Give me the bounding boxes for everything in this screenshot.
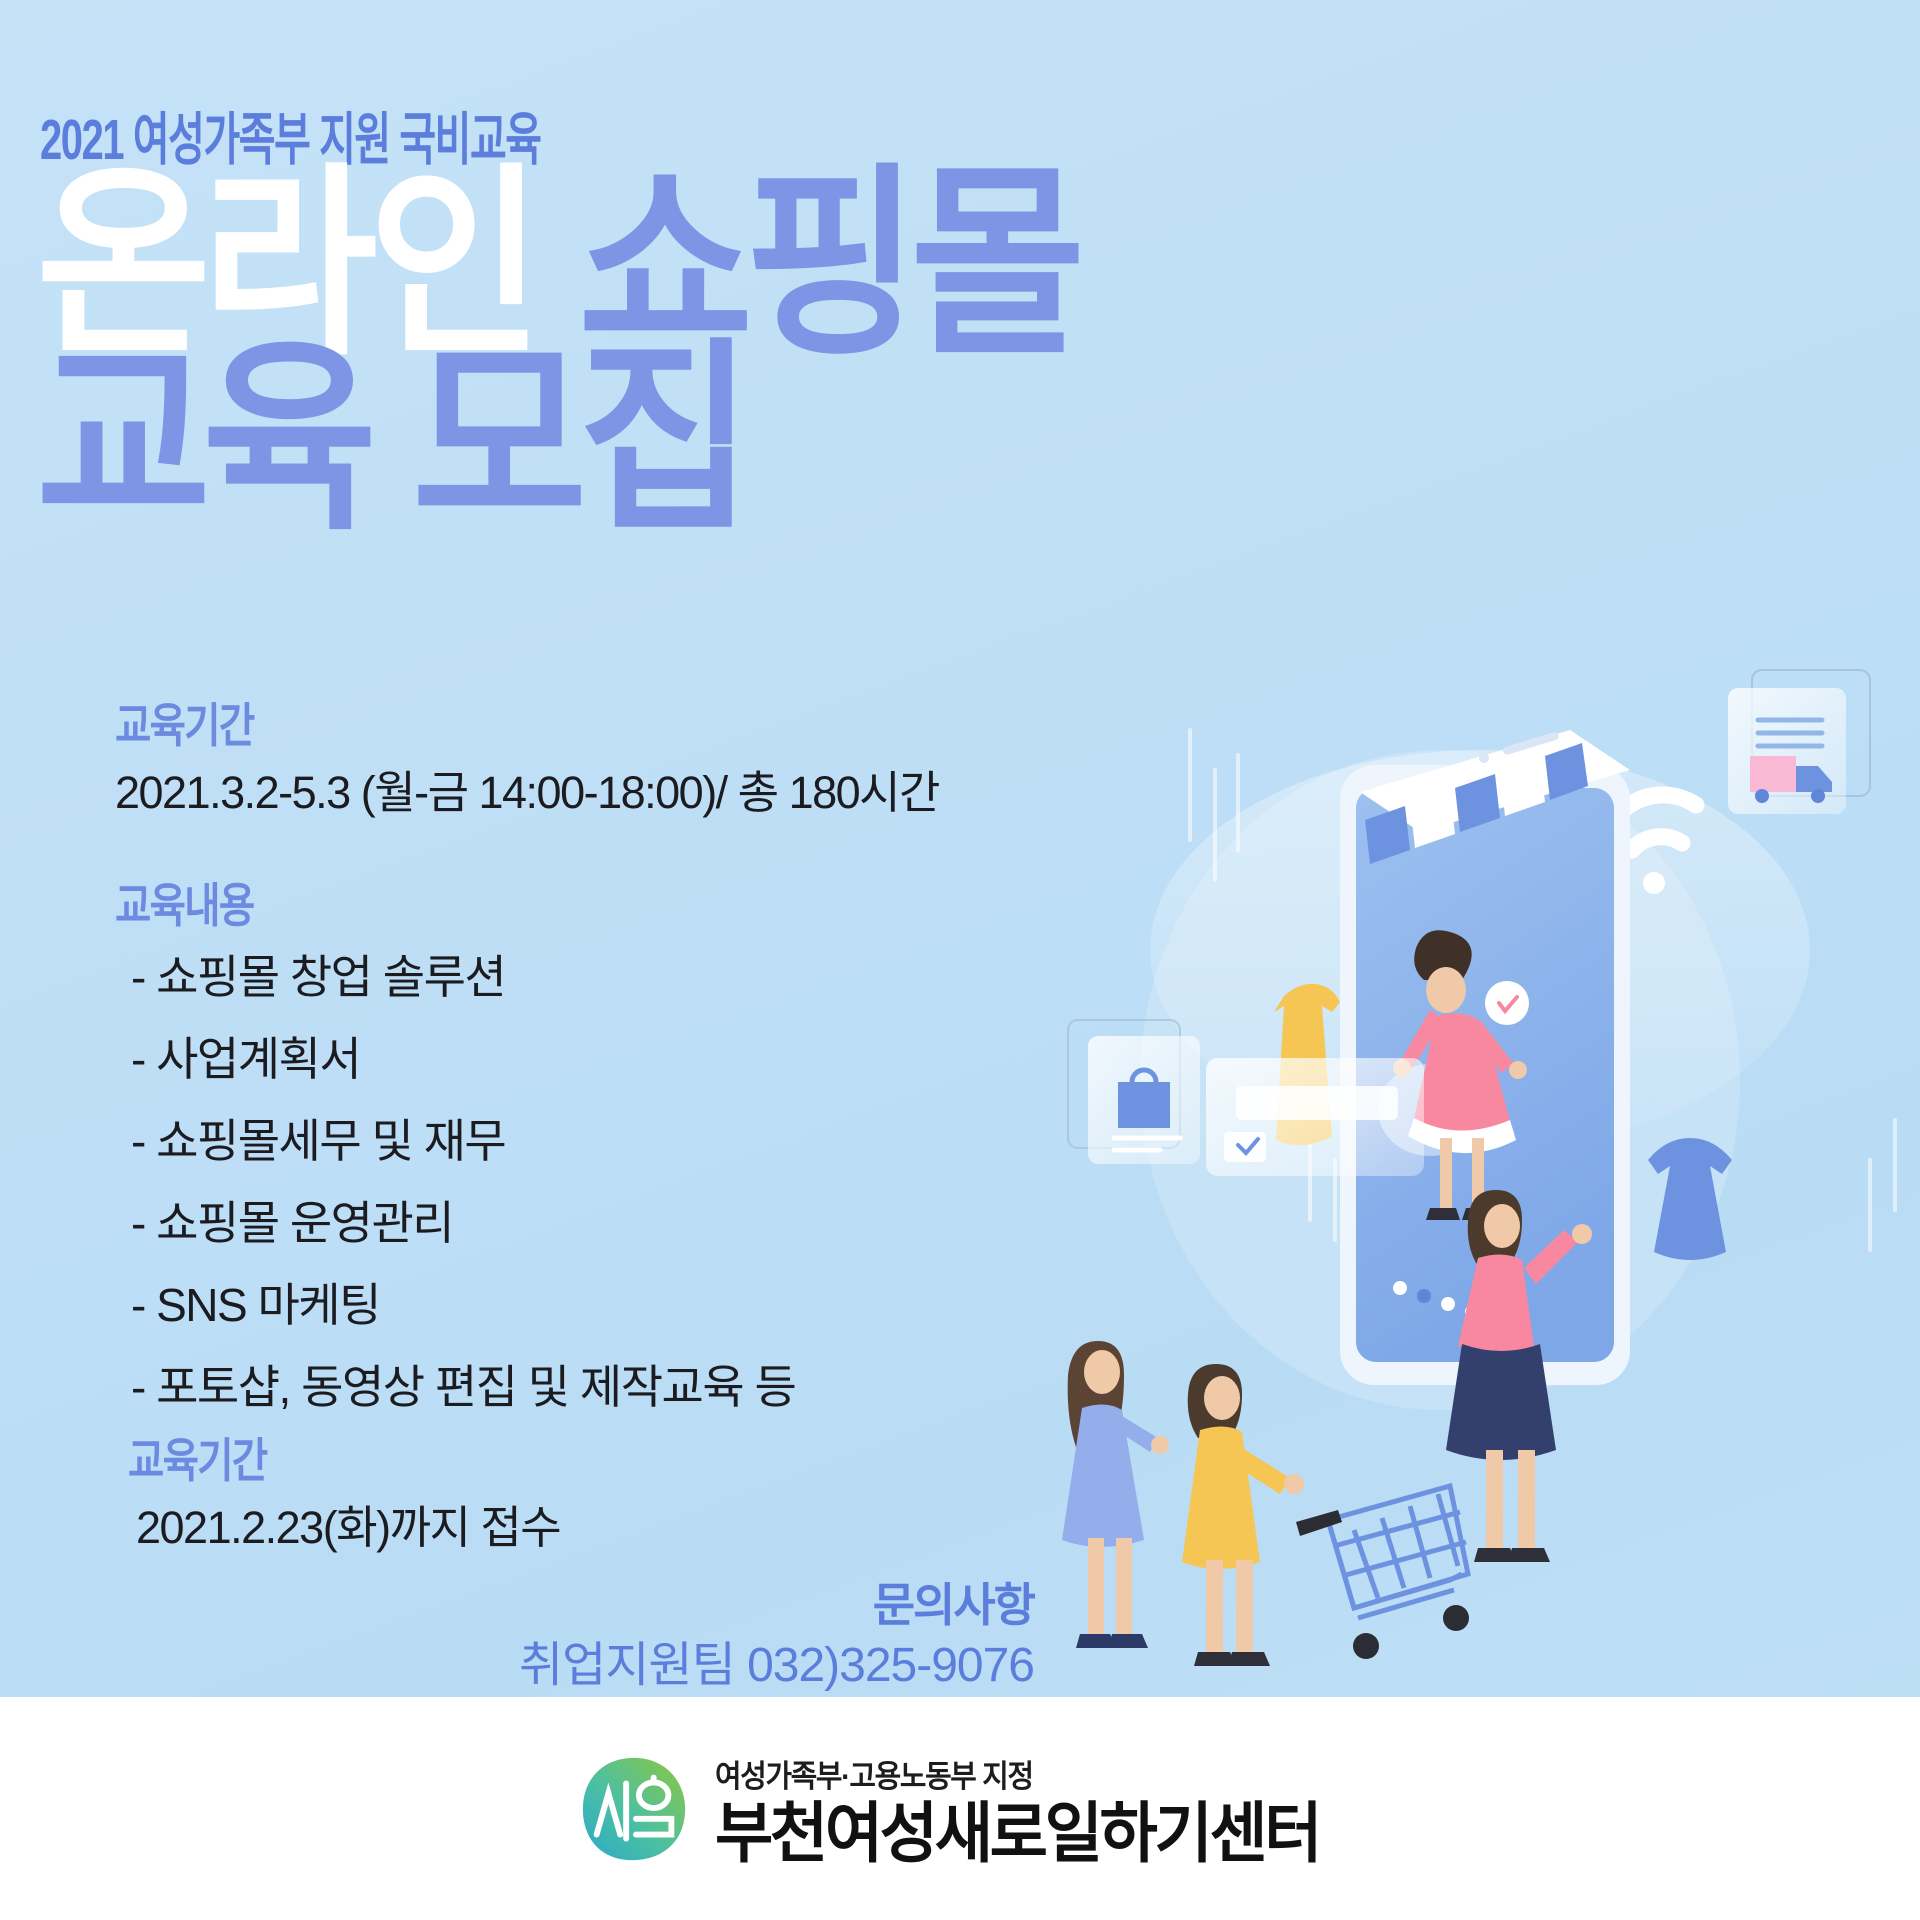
list-item: - 쇼핑몰 창업 솔루션 [115, 954, 795, 1000]
list-item: - 쇼핑몰 운영관리 [115, 1200, 795, 1246]
search-input-field [1236, 1086, 1398, 1120]
contact-section: 문의사항 취업지원팀 032)325-9076 [519, 1580, 1034, 1693]
delivery-truck-card [1728, 670, 1870, 814]
contact-phone[interactable]: 취업지원팀 032)325-9076 [519, 1638, 1034, 1694]
content-heading: 교육내용 [115, 880, 686, 932]
apply-value: 2021.2.23(화)까지 접수 [128, 1501, 560, 1554]
cart-wheel-right [1443, 1605, 1469, 1631]
footer-organization: 부천여성새로일하기센터 [715, 1800, 1319, 1866]
shopping-illustration [1010, 520, 1920, 1700]
list-item: - SNS 마케팅 [115, 1282, 795, 1328]
period-heading: 교육기간 [115, 700, 807, 752]
wifi-dot [1643, 872, 1665, 894]
truck-cargo-pink [1750, 756, 1796, 792]
poster-title: 온라인 쇼핑몰 교육 모집 [36, 160, 1155, 544]
search-bar-card [1206, 1058, 1424, 1176]
contact-heading: 문의사항 [519, 1580, 1034, 1632]
period-section: 교육기간 2021.3.2-5.3 (월-금 14:00-18:00)/ 총 1… [115, 700, 939, 819]
cart-wheel-left [1353, 1633, 1379, 1659]
cart-handle [1296, 1510, 1342, 1536]
woman-blue-dress [1062, 1341, 1169, 1648]
list-item: - 쇼핑몰세무 및 재무 [115, 1118, 795, 1164]
bag-body [1118, 1082, 1170, 1128]
content-section: 교육내용 - 쇼핑몰 창업 솔루션 - 사업계획서 - 쇼핑몰세무 및 재무 -… [115, 880, 795, 1446]
period-value: 2021.3.2-5.3 (월-금 14:00-18:00)/ 총 180시간 [115, 766, 939, 819]
title-line-2: 교육 모집 [36, 335, 1076, 544]
list-item: - 사업계획서 [115, 1036, 795, 1082]
content-list: - 쇼핑몰 창업 솔루션 - 사업계획서 - 쇼핑몰세무 및 재무 - 쇼핑몰 … [115, 954, 795, 1410]
list-item: - 포토샵, 동영상 편집 및 제작교육 등 [115, 1364, 795, 1410]
apply-section: 교육기간 2021.2.23(화)까지 접수 [128, 1435, 560, 1554]
woman-yellow-dress [1182, 1364, 1304, 1666]
poster-root: 2021 여성가족부 지원 국비교육 온라인 쇼핑몰 교육 모집 [0, 0, 1920, 1920]
apply-heading: 교육기간 [128, 1435, 491, 1487]
saeil-logo-icon [575, 1750, 693, 1868]
footer-designation: 여성가족부·고용노동부 지정 [715, 1751, 1300, 1796]
shopping-bag-card [1068, 1020, 1200, 1164]
footer-bar: 여성가족부·고용노동부 지정 부천여성새로일하기센터 [0, 1697, 1920, 1920]
shopping-cart [1328, 1486, 1468, 1618]
footer-text-block: 여성가족부·고용노동부 지정 부천여성새로일하기센터 [715, 1751, 1344, 1866]
